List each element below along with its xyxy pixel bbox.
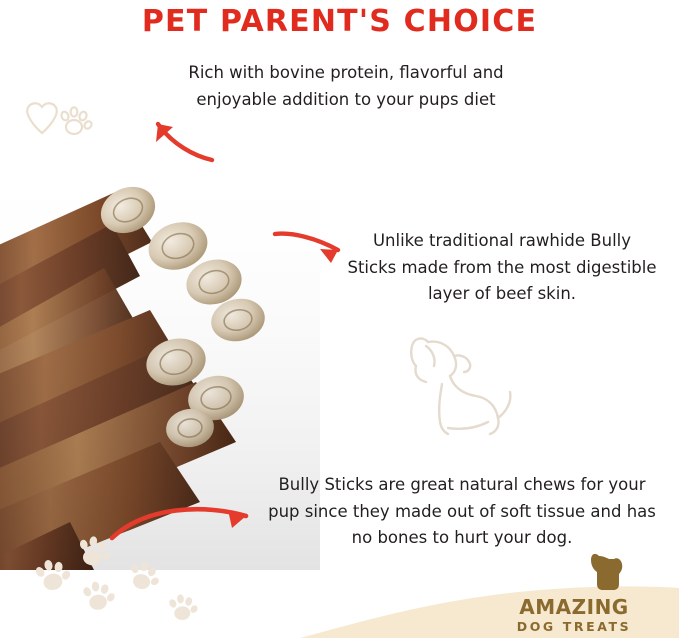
paw-prints-watermark-icon	[30, 528, 260, 633]
brand-name: AMAZING	[479, 597, 669, 618]
brand-tagline: DOG TREATS	[479, 619, 669, 634]
arrow-icon-middle	[272, 228, 350, 270]
brand-dog-icon	[587, 550, 627, 592]
callout-natural-chews-text: Bully Sticks are great natural chews for…	[262, 472, 662, 552]
page-title: PET PARENT'S CHOICE	[0, 4, 679, 39]
paw-heart-watermark-icon	[18, 95, 98, 155]
brand-lockup: AMAZING DOG TREATS	[479, 597, 669, 634]
callout-protein-text: Rich with bovine protein, flavorful and …	[168, 60, 524, 113]
dog-outline-watermark-icon	[392, 332, 524, 444]
product-infographic: PET PARENT'S CHOICE Rich with bovine pro…	[0, 0, 679, 638]
callout-rawhide-text: Unlike traditional rawhide Bully Sticks …	[346, 228, 658, 308]
arrow-icon-top	[132, 98, 217, 168]
